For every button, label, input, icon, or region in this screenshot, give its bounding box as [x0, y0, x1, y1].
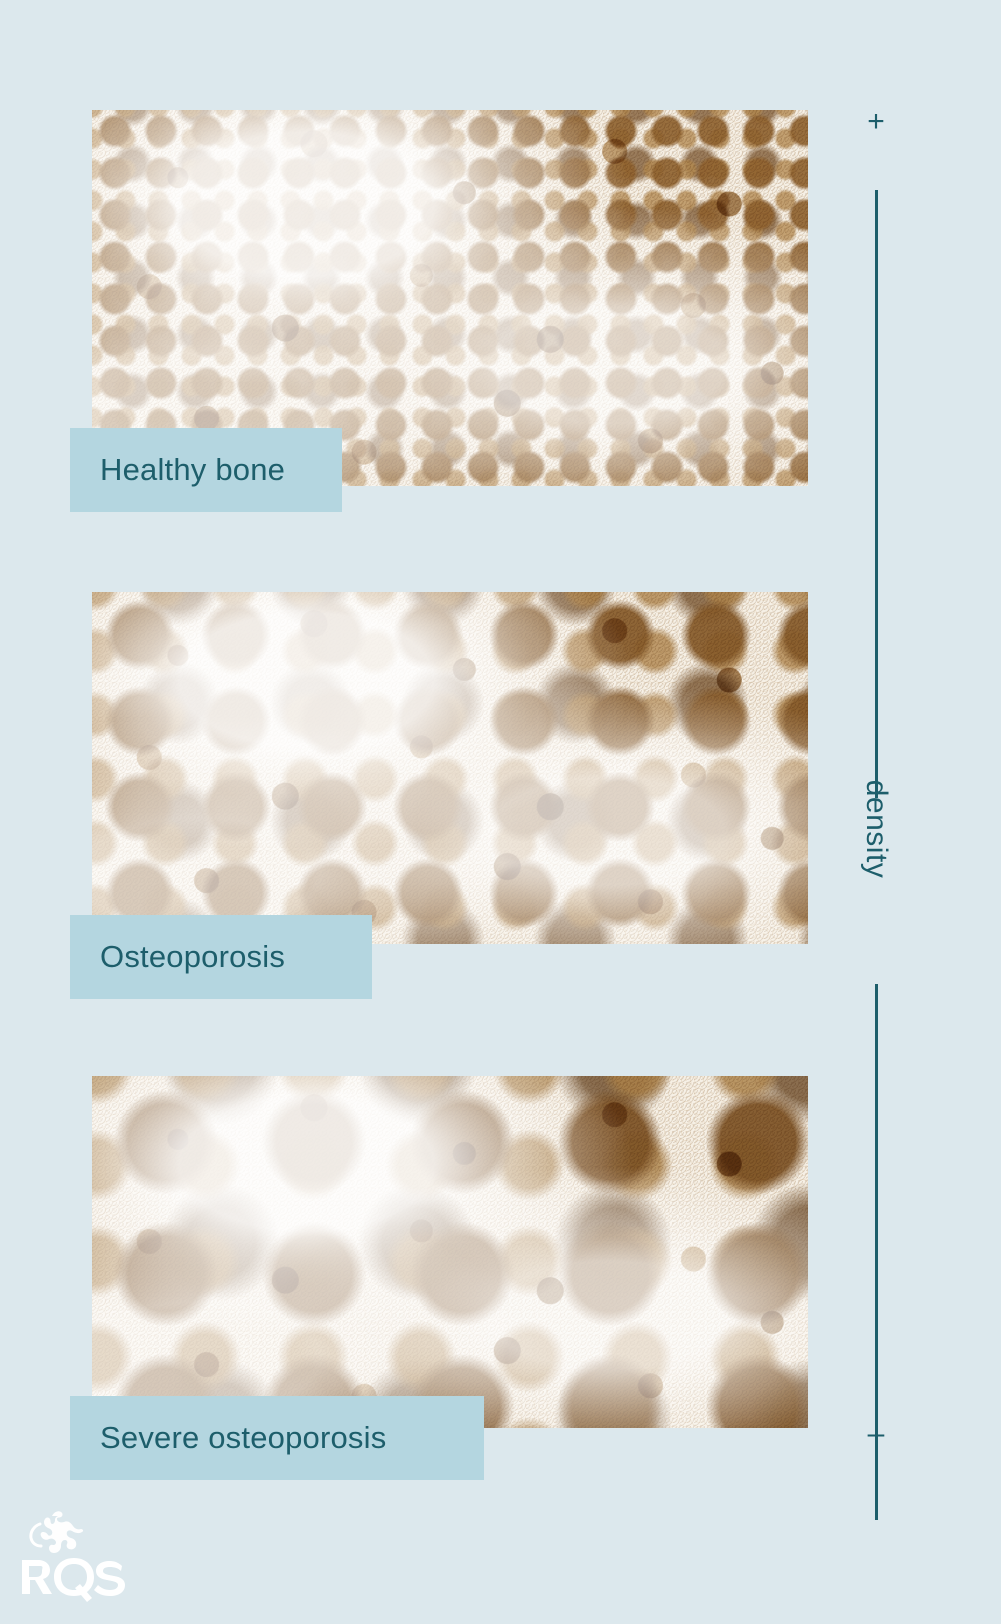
density-axis-line-upper — [875, 190, 878, 798]
density-axis: + density – — [858, 104, 894, 1448]
bone-texture-grain — [92, 592, 808, 944]
rqs-logo — [18, 1502, 128, 1606]
density-axis-minus-sign: – — [858, 1424, 894, 1444]
density-axis-label: density — [859, 780, 893, 879]
bone-image-severe-osteoporosis — [92, 1076, 808, 1428]
bone-image-osteoporosis — [92, 592, 808, 944]
caption-label-healthy: Healthy bone — [70, 452, 285, 488]
bone-texture-grain — [92, 1076, 808, 1428]
caption-plate-healthy: Healthy bone — [70, 428, 342, 512]
caption-label-osteoporosis: Osteoporosis — [70, 939, 285, 975]
density-axis-plus-sign: + — [858, 112, 894, 132]
caption-label-severe-osteoporosis: Severe osteoporosis — [70, 1420, 386, 1456]
infographic-canvas: Healthy bone Osteoporosis Severe osteopo… — [0, 0, 1001, 1624]
caption-plate-severe-osteoporosis: Severe osteoporosis — [70, 1396, 484, 1480]
caption-plate-osteoporosis: Osteoporosis — [70, 915, 372, 999]
